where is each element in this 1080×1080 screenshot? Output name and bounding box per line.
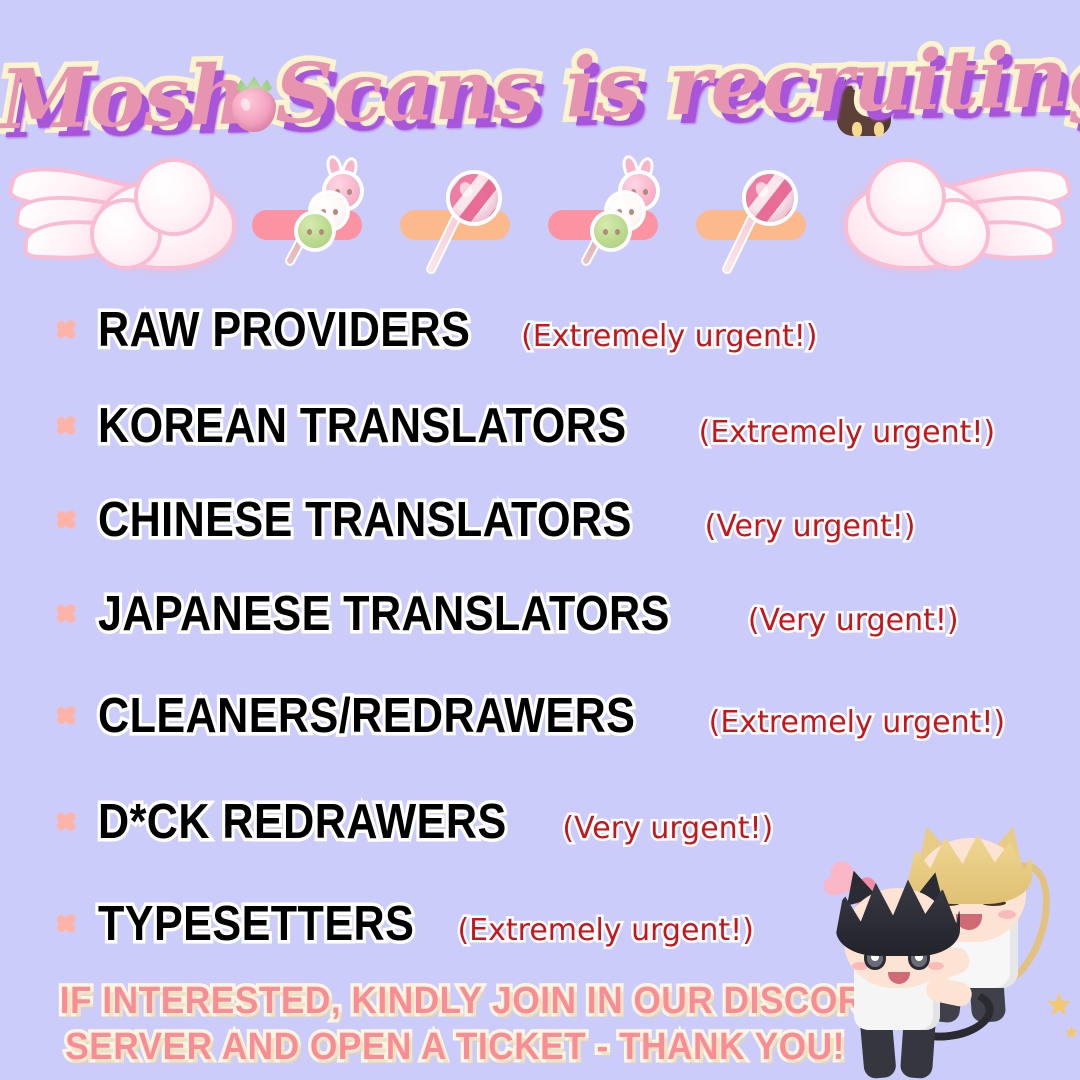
cloud-shape: [100, 182, 232, 266]
recruitment-poster: Mosh Scans is recruiting!: [0, 0, 1080, 1080]
chevron-right-icon: [56, 695, 82, 737]
decorative-divider: [0, 162, 1080, 288]
list-item: KOREAN TRANSLATORS (Extremely urgent!): [56, 398, 995, 454]
chevron-right-icon: [56, 903, 82, 945]
chevron-right-icon: [56, 499, 82, 541]
footer-line-1: IF INTERESTED, KINDLY JOIN IN OUR DISCOR…: [60, 978, 851, 1024]
chevron-right-icon: [56, 405, 82, 447]
dango-ball-green: [594, 214, 628, 248]
title-area: Mosh Scans is recruiting!: [0, 34, 1080, 154]
star-icon: [1046, 992, 1072, 1018]
list-item: D*CK REDRAWERS (Very urgent!): [56, 794, 773, 850]
status-badge: (Extremely urgent!): [457, 912, 753, 950]
status-badge: (Very urgent!): [705, 508, 916, 546]
role-title: TYPESETTERS: [98, 896, 414, 952]
strawberry-icon: [228, 72, 280, 132]
role-title: KOREAN TRANSLATORS: [98, 398, 627, 454]
lollipop-icon: [728, 170, 814, 278]
dango-skewer-icon: [284, 170, 370, 270]
status-badge: (Very urgent!): [562, 810, 773, 848]
list-item: TYPESETTERS (Extremely urgent!): [56, 896, 754, 952]
status-badge: (Extremely urgent!): [709, 704, 1005, 742]
status-badge: (Very urgent!): [748, 602, 959, 640]
lollipop-stick: [427, 215, 460, 273]
role-title: JAPANESE TRANSLATORS: [98, 586, 670, 642]
status-badge: (Extremely urgent!): [521, 318, 817, 356]
list-item: CHINESE TRANSLATORS (Very urgent!): [56, 492, 915, 548]
chevron-right-icon: [56, 593, 82, 635]
status-badge: (Extremely urgent!): [699, 414, 995, 452]
dango-ball-green: [298, 214, 332, 248]
dango-skewer-icon: [580, 170, 666, 270]
chevron-right-icon: [56, 801, 82, 843]
lollipop-candy: [450, 174, 498, 222]
list-item: JAPANESE TRANSLATORS (Very urgent!): [56, 586, 959, 642]
list-item: RAW PROVIDERS (Extremely urgent!): [56, 302, 818, 358]
page-title: Mosh Scans is recruiting!: [0, 23, 1080, 156]
chibi-catboys-illustration: [810, 830, 1080, 1080]
role-title: RAW PROVIDERS: [98, 302, 470, 358]
lollipop-stick: [723, 215, 756, 273]
dark-blush: [928, 962, 944, 970]
lollipop-candy: [746, 174, 794, 222]
role-title: D*CK REDRAWERS: [98, 794, 507, 850]
list-item: CLEANERS/REDRAWERS (Extremely urgent!): [56, 688, 1005, 744]
blond-blush: [998, 910, 1016, 919]
star-icon: [1064, 1025, 1079, 1040]
chevron-right-icon: [56, 309, 82, 351]
strawberry-berry: [232, 88, 276, 132]
footer-line-2: SERVER AND OPEN A TICKET - THANK YOU!: [60, 1024, 851, 1070]
role-title: CHINESE TRANSLATORS: [98, 492, 632, 548]
cloud-shape: [848, 182, 980, 266]
cloud-wing-icon-right: [848, 168, 1068, 280]
role-title: CLEANERS/REDRAWERS: [98, 688, 635, 744]
cloud-wing-icon-left: [12, 168, 232, 280]
lollipop-icon: [432, 170, 518, 278]
